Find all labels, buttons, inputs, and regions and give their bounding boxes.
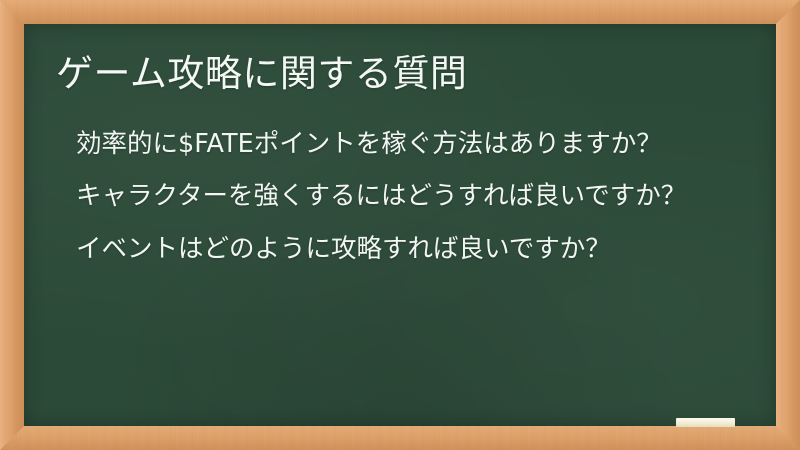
- question-list: 効率的に$FATEポイントを稼ぐ方法はありますか？ キャラクターを強くするにはど…: [76, 124, 766, 281]
- frame-bottom-rail: [0, 426, 800, 450]
- frame-left-rail: [0, 0, 24, 450]
- wood-grain-texture: [0, 426, 800, 450]
- frame-top-rail: [0, 0, 800, 24]
- chalkboard-surface: ゲーム攻略に関する質問 効率的に$FATEポイントを稼ぐ方法はありますか？ キャ…: [24, 24, 776, 426]
- chalk-stick-icon: [676, 418, 735, 427]
- slide-title: ゲーム攻略に関する質問: [56, 52, 756, 96]
- question-item: キャラクターを強くするにはどうすれば良いですか？: [76, 176, 766, 216]
- chalkboard-slide: ゲーム攻略に関する質問 効率的に$FATEポイントを稼ぐ方法はありますか？ キャ…: [0, 0, 800, 450]
- question-item: 効率的に$FATEポイントを稼ぐ方法はありますか？: [76, 124, 766, 164]
- wood-grain-texture: [776, 0, 800, 450]
- wood-grain-texture: [0, 0, 800, 24]
- wood-grain-texture: [0, 0, 24, 450]
- frame-right-rail: [776, 0, 800, 450]
- question-item: イベントはどのように攻略すれば良いですか？: [76, 229, 766, 269]
